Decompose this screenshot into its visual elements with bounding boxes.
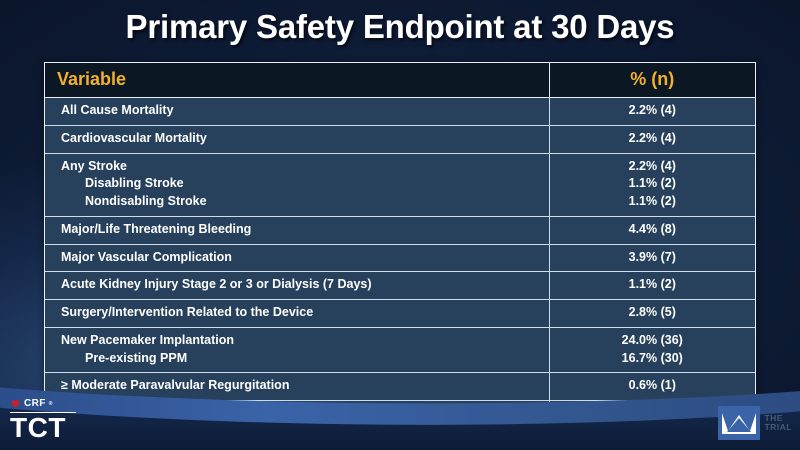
- crf-wordmark: CRF: [24, 399, 46, 409]
- table-row: Any StrokeDisabling StrokeNondisabling S…: [45, 153, 755, 216]
- row-value: 24.0% (36) 16.7% (30): [549, 327, 755, 373]
- row-variable-sublabel: Pre-existing PPM: [61, 350, 543, 368]
- row-variable-label: Major Vascular Complication: [45, 244, 549, 272]
- table-body: All Cause Mortality2.2% (4)Cardiovascula…: [45, 98, 755, 428]
- crown-icon: [718, 406, 760, 440]
- table-row: All Cause Mortality2.2% (4): [45, 98, 755, 126]
- row-variable-main: Acute Kidney Injury Stage 2 or 3 or Dial…: [61, 277, 372, 291]
- title-bar: Primary Safety Endpoint at 30 Days: [0, 8, 800, 46]
- row-variable-main: All Cause Mortality: [61, 103, 174, 117]
- row-variable-label: Major/Life Threatening Bleeding: [45, 216, 549, 244]
- row-value: 2.2% (4) 1.1% (2) 1.1% (2): [549, 153, 755, 216]
- row-variable-label: Surgery/Intervention Related to the Devi…: [45, 300, 549, 328]
- table-row: Major Vascular Complication3.9% (7): [45, 244, 755, 272]
- crf-trademark: ®: [49, 401, 53, 407]
- row-variable-label: Acute Kidney Injury Stage 2 or 3 or Dial…: [45, 272, 549, 300]
- row-value: 4.4% (8): [549, 216, 755, 244]
- table-row: Surgery/Intervention Related to the Devi…: [45, 300, 755, 328]
- table-row: Cardiovascular Mortality2.2% (4): [45, 125, 755, 153]
- safety-endpoint-table: Variable % (n) All Cause Mortality2.2% (…: [44, 62, 756, 429]
- row-value: 2.8% (5): [549, 300, 755, 328]
- row-variable-main: Surgery/Intervention Related to the Devi…: [61, 305, 313, 319]
- column-header-variable: Variable: [45, 63, 549, 98]
- tct-wordmark: TCT: [10, 414, 130, 442]
- row-variable-label: New Pacemaker ImplantationPre-existing P…: [45, 327, 549, 373]
- row-value: 2.2% (4): [549, 98, 755, 126]
- trial-logo: THE TRIAL: [718, 406, 792, 440]
- table-row: Total26.7% (48): [45, 401, 755, 428]
- table-row: Acute Kidney Injury Stage 2 or 3 or Dial…: [45, 272, 755, 300]
- row-value: 0.6% (1): [549, 373, 755, 401]
- row-variable-label: All Cause Mortality: [45, 98, 549, 126]
- trial-logo-line3: TRIAL: [764, 423, 792, 432]
- row-value: 3.9% (7): [549, 244, 755, 272]
- row-variable-main: Any Stroke: [61, 159, 127, 173]
- row-variable-label: ≥ Moderate Paravalvular Regurgitation: [45, 373, 549, 401]
- row-value: 2.2% (4): [549, 125, 755, 153]
- row-value: 1.1% (2): [549, 272, 755, 300]
- table-row: ≥ Moderate Paravalvular Regurgitation0.6…: [45, 373, 755, 401]
- slide: Primary Safety Endpoint at 30 Days Varia…: [0, 0, 800, 450]
- row-variable-main: ≥ Moderate Paravalvular Regurgitation: [61, 378, 289, 392]
- row-variable-main: Cardiovascular Mortality: [61, 131, 207, 145]
- table-header-row: Variable % (n): [45, 63, 755, 98]
- table-row: New Pacemaker ImplantationPre-existing P…: [45, 327, 755, 373]
- column-header-value: % (n): [549, 63, 755, 98]
- heart-icon: [10, 398, 21, 409]
- row-variable-main: New Pacemaker Implantation: [61, 333, 234, 347]
- crf-lockup: CRF ®: [10, 398, 130, 410]
- row-variable-sublabel: Disabling Stroke: [61, 175, 543, 193]
- trial-logo-text: THE TRIAL: [764, 414, 792, 432]
- table-row: Major/Life Threatening Bleeding4.4% (8): [45, 216, 755, 244]
- row-variable-main: Major/Life Threatening Bleeding: [61, 222, 251, 236]
- row-variable-main: Major Vascular Complication: [61, 250, 232, 264]
- row-variable-sublabel: Nondisabling Stroke: [61, 193, 543, 211]
- row-variable-label: Any StrokeDisabling StrokeNondisabling S…: [45, 153, 549, 216]
- row-variable-label: Cardiovascular Mortality: [45, 125, 549, 153]
- page-title: Primary Safety Endpoint at 30 Days: [126, 8, 675, 46]
- crf-tct-logo: CRF ® TCT: [10, 398, 130, 443]
